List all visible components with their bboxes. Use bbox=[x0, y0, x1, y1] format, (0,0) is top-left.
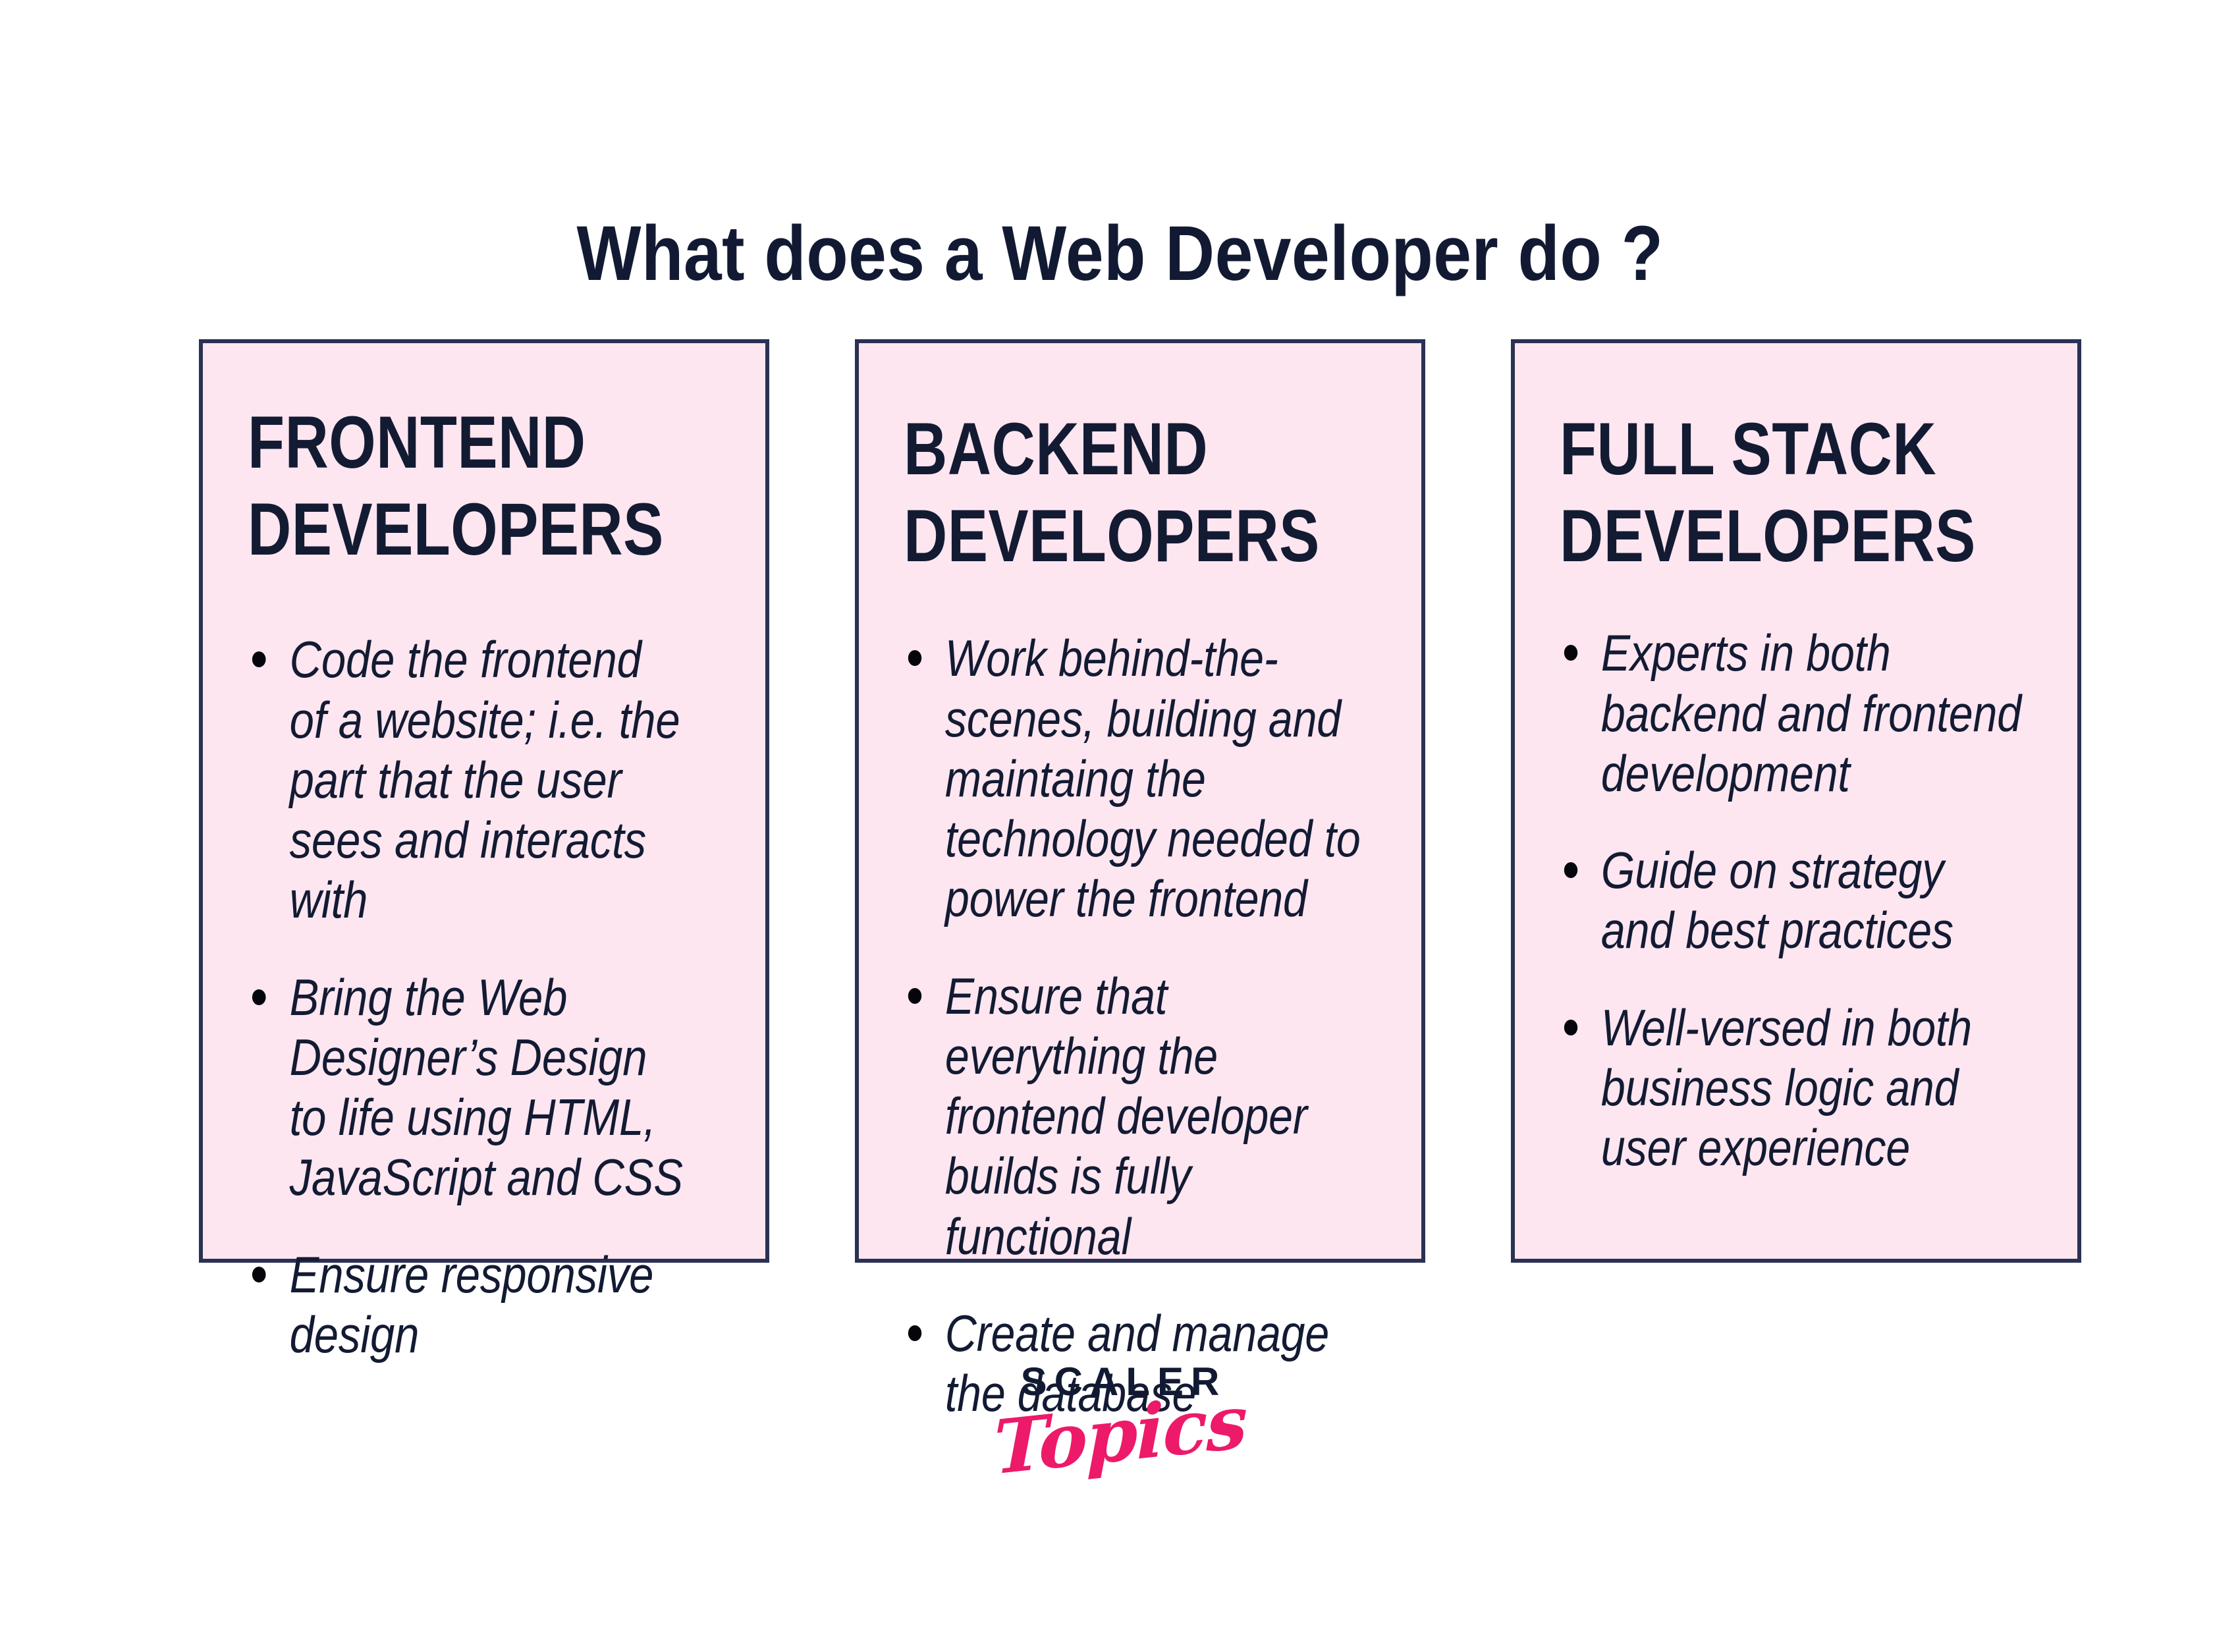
card-backend-content: BACKEND DEVELOPERS Work behind-the-scene… bbox=[859, 343, 1421, 1259]
bullet-dot-icon bbox=[252, 989, 266, 1005]
list-item-text: Ensure that everything the frontend deve… bbox=[945, 967, 1307, 1265]
card-full-stack-developers: FULL STACK DEVELOPERS Experts in both ba… bbox=[1511, 339, 2081, 1263]
list-item-text: Well-versed in both business logic and u… bbox=[1601, 999, 1972, 1177]
card-backend-developers: BACKEND DEVELOPERS Work behind-the-scene… bbox=[855, 339, 1425, 1263]
list-item: Guide on strategy and best practices bbox=[1560, 840, 2027, 961]
list-item-text: Work behind-the-scenes, building and mai… bbox=[945, 629, 1361, 927]
bullet-dot-icon bbox=[1564, 1020, 1577, 1035]
developer-roles-card-row: FRONTEND DEVELOPERS Code the frontend of… bbox=[199, 339, 2081, 1263]
card-full-stack-bullet-list: Experts in both backend and frontend dev… bbox=[1560, 623, 2046, 1178]
bullet-dot-icon bbox=[1564, 862, 1577, 878]
card-frontend-heading: FRONTEND DEVELOPERS bbox=[248, 399, 646, 573]
list-item: Well-versed in both business logic and u… bbox=[1560, 998, 2027, 1178]
card-frontend-bullet-list: Code the frontend of a website; i.e. the… bbox=[248, 630, 734, 1365]
card-frontend-content: FRONTEND DEVELOPERS Code the frontend of… bbox=[203, 343, 765, 1259]
list-item-text: Guide on strategy and best practices bbox=[1601, 841, 1953, 959]
card-backend-bullet-list: Work behind-the-scenes, building and mai… bbox=[904, 628, 1390, 1423]
list-item-text: Experts in both backend and frontend dev… bbox=[1601, 624, 2021, 802]
list-item-text: Code the frontend of a website; i.e. the… bbox=[290, 630, 680, 929]
list-item: Experts in both backend and frontend dev… bbox=[1560, 623, 2027, 804]
bullet-dot-icon bbox=[908, 1325, 921, 1341]
card-full-stack-heading: FULL STACK DEVELOPERS bbox=[1560, 406, 1958, 580]
list-item-text: Ensure responsive design bbox=[290, 1246, 654, 1363]
list-item: Code the frontend of a website; i.e. the… bbox=[248, 630, 686, 930]
bullet-dot-icon bbox=[252, 651, 266, 667]
scaler-topics-logo: SCALER Topics bbox=[0, 1362, 2240, 1474]
bullet-dot-icon bbox=[252, 1267, 266, 1282]
list-item: Work behind-the-scenes, building and mai… bbox=[904, 628, 1371, 929]
bullet-dot-icon bbox=[908, 650, 921, 666]
card-full-stack-content: FULL STACK DEVELOPERS Experts in both ba… bbox=[1515, 343, 2077, 1259]
page-title: What does a Web Developer do ? bbox=[134, 210, 2106, 297]
card-backend-heading: BACKEND DEVELOPERS bbox=[904, 406, 1302, 580]
list-item: Bring the Web Designer’s Design to life … bbox=[248, 968, 686, 1208]
list-item-text: Bring the Web Designer’s Design to life … bbox=[290, 968, 683, 1207]
bullet-dot-icon bbox=[1564, 645, 1577, 661]
card-frontend-developers: FRONTEND DEVELOPERS Code the frontend of… bbox=[199, 339, 769, 1263]
bullet-dot-icon bbox=[908, 988, 921, 1004]
list-item: Ensure that everything the frontend deve… bbox=[904, 966, 1371, 1267]
list-item: Ensure responsive design bbox=[248, 1245, 686, 1365]
